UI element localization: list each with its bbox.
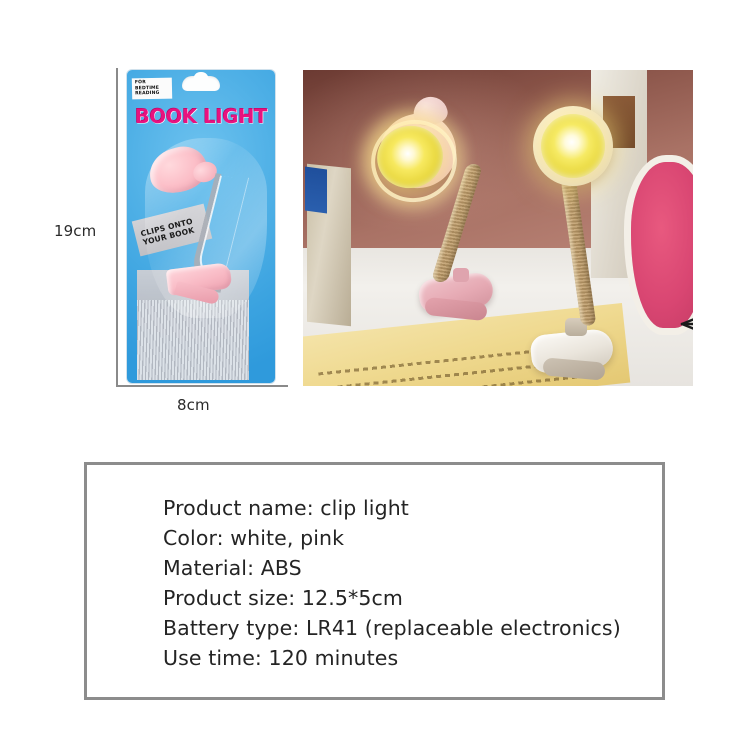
photo-standing-book-accent (305, 166, 327, 213)
photo-pink-lamp-socket (453, 268, 469, 282)
whiskers-icon (679, 312, 693, 336)
product-photo (303, 70, 693, 386)
height-label: 19cm (54, 222, 96, 240)
spec-line: Battery type: LR41 (replaceable electron… (163, 613, 621, 643)
spec-line: Product size: 12.5*5cm (163, 583, 621, 613)
spec-line: Use time: 120 minutes (163, 643, 621, 673)
spec-line: Product name: clip light (163, 493, 621, 523)
spec-line: Color: white, pink (163, 523, 621, 553)
package-title: BOOK LIGHT (127, 105, 275, 128)
product-package-card: CLIPS ONTO YOUR BOOK FOR BEDTIME READING… (127, 70, 275, 383)
specification-list: Product name: clip light Color: white, p… (163, 493, 621, 673)
spec-line: Material: ABS (163, 553, 621, 583)
width-measure-line (116, 385, 288, 387)
photo-pink-cat-object (631, 162, 693, 328)
width-label: 8cm (177, 396, 210, 414)
package-badge: FOR BEDTIME READING (132, 78, 172, 100)
photo-white-lamp-glow (541, 114, 605, 178)
package-hang-hole (182, 76, 220, 91)
height-measure-line (116, 68, 118, 387)
specification-box: Product name: clip light Color: white, p… (84, 462, 665, 700)
